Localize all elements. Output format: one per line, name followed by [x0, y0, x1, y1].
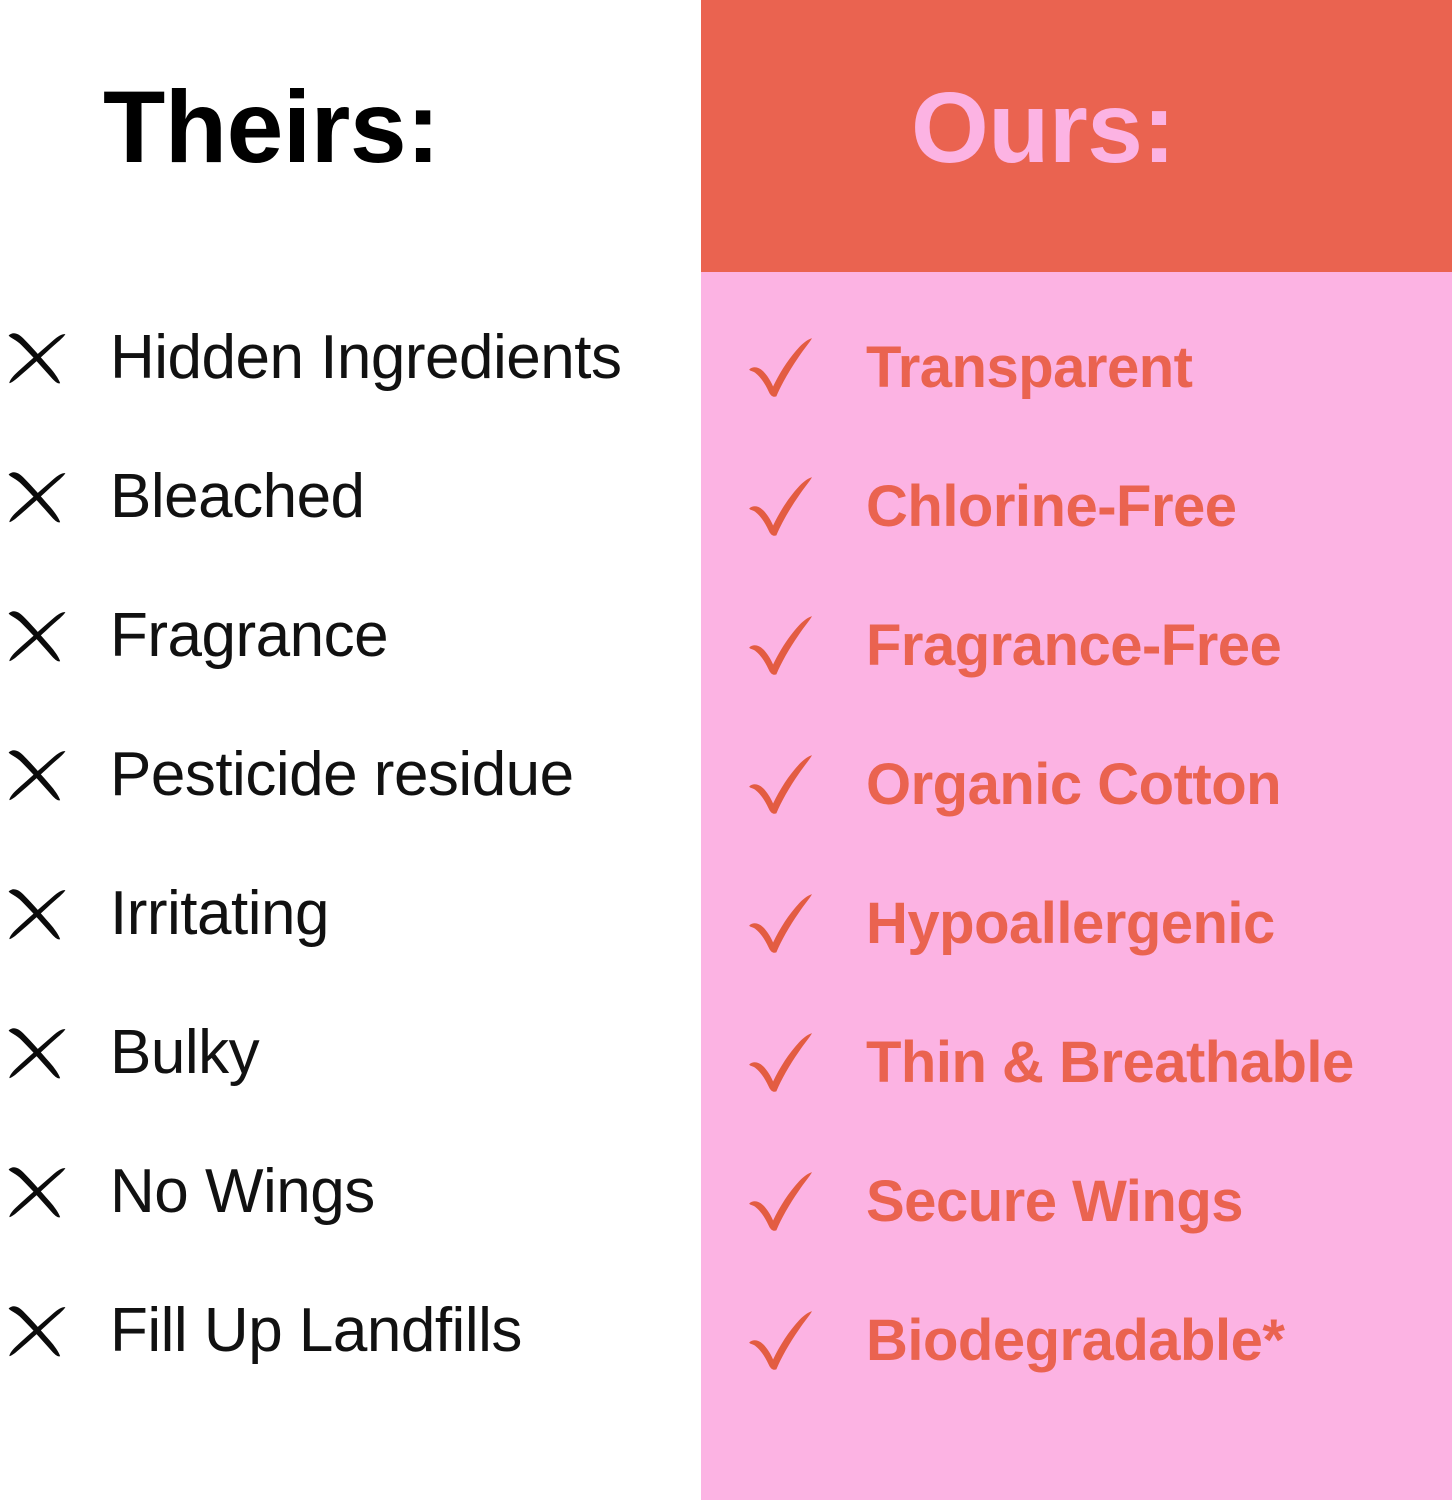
list-item: Pesticide residue — [6, 729, 574, 821]
theirs-item-label: Bleached — [110, 466, 365, 528]
list-item: Irritating — [6, 868, 329, 960]
cross-icon — [6, 1020, 72, 1086]
list-item: Transparent — [748, 322, 1193, 414]
list-item: Fragrance-Free — [748, 600, 1281, 692]
ours-item-label: Hypoallergenic — [866, 895, 1275, 953]
ours-item-label: Organic Cotton — [866, 756, 1281, 814]
theirs-item-label: Fill Up Landfills — [110, 1300, 522, 1362]
theirs-item-label: Irritating — [110, 883, 329, 945]
ours-item-label: Secure Wings — [866, 1173, 1243, 1231]
list-item: Secure Wings — [748, 1156, 1243, 1248]
cross-icon — [6, 325, 72, 391]
theirs-item-label: Hidden Ingredients — [110, 327, 621, 389]
ours-item-label: Thin & Breathable — [866, 1034, 1354, 1092]
list-item: Hypoallergenic — [748, 878, 1275, 970]
list-item: Thin & Breathable — [748, 1017, 1354, 1109]
list-item: Fragrance — [6, 590, 388, 682]
theirs-item-label: Pesticide residue — [110, 744, 574, 806]
list-item: No Wings — [6, 1146, 375, 1238]
list-item: Bulky — [6, 1007, 259, 1099]
comparison-chart: Theirs: Hidden Ingredients Bleached Frag… — [0, 0, 1452, 1500]
ours-heading: Ours: — [911, 78, 1175, 178]
ours-item-label: Transparent — [866, 339, 1193, 397]
ours-item-label: Chlorine-Free — [866, 478, 1237, 536]
check-icon — [748, 891, 814, 957]
list-item: Organic Cotton — [748, 739, 1281, 831]
check-icon — [748, 1308, 814, 1374]
cross-icon — [6, 1159, 72, 1225]
cross-icon — [6, 603, 72, 669]
list-item: Fill Up Landfills — [6, 1285, 522, 1377]
check-icon — [748, 1169, 814, 1235]
ours-item-label: Fragrance-Free — [866, 617, 1281, 675]
check-icon — [748, 613, 814, 679]
check-icon — [748, 474, 814, 540]
cross-icon — [6, 881, 72, 947]
ours-item-label: Biodegradable* — [866, 1312, 1284, 1370]
cross-icon — [6, 742, 72, 808]
list-item: Hidden Ingredients — [6, 312, 621, 404]
theirs-item-label: No Wings — [110, 1161, 375, 1223]
list-item: Bleached — [6, 451, 365, 543]
check-icon — [748, 752, 814, 818]
theirs-column: Theirs: Hidden Ingredients Bleached Frag… — [0, 0, 701, 1500]
theirs-heading: Theirs: — [103, 76, 440, 178]
list-item: Chlorine-Free — [748, 461, 1237, 553]
theirs-item-label: Bulky — [110, 1022, 259, 1084]
check-icon — [748, 1030, 814, 1096]
theirs-item-label: Fragrance — [110, 605, 388, 667]
check-icon — [748, 335, 814, 401]
cross-icon — [6, 464, 72, 530]
cross-icon — [6, 1298, 72, 1364]
list-item: Biodegradable* — [748, 1295, 1284, 1387]
